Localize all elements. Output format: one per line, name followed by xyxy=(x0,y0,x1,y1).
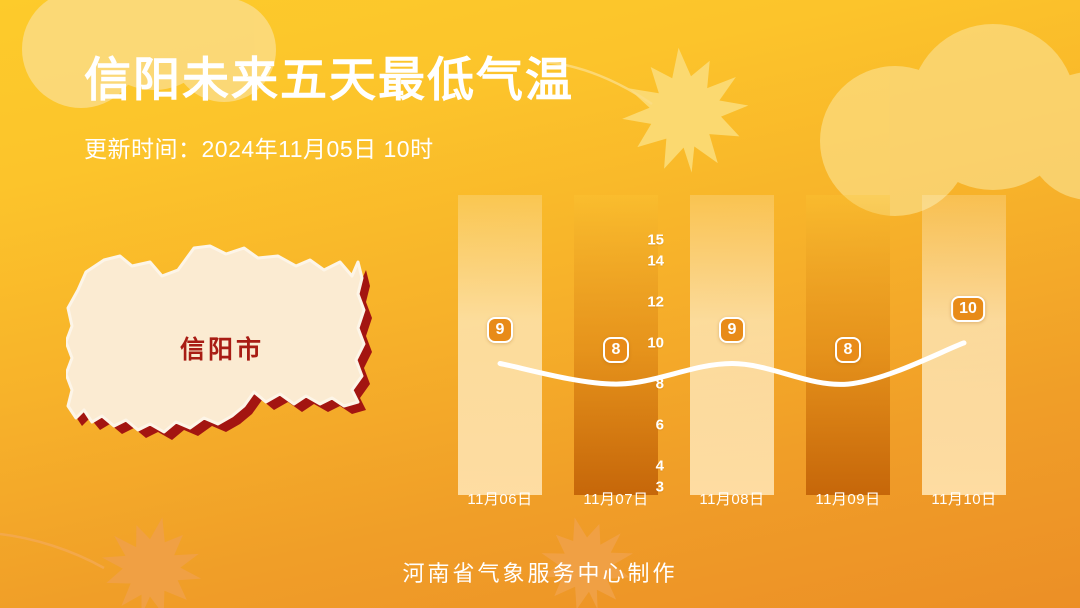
x-tick-11月10日: 11月10日 xyxy=(909,488,1019,509)
map-city-label: 信阳市 xyxy=(180,330,264,366)
chart-x-axis: 11月06日11月07日11月08日11月09日11月10日 xyxy=(416,488,1036,514)
y-tick-6: 6 xyxy=(634,417,664,434)
temperature-badge-11月10日: 10 xyxy=(951,296,985,322)
temperature-badge-11月08日: 9 xyxy=(719,317,745,343)
footer-credit: 河南省气象服务中心制作 xyxy=(0,556,1080,588)
x-tick-11月06日: 11月06日 xyxy=(445,488,555,509)
cloud-decoration-top-right xyxy=(850,14,1080,154)
page-title: 信阳未来五天最低气温 xyxy=(84,53,574,107)
x-tick-11月08日: 11月08日 xyxy=(677,488,787,509)
weather-poster: 信阳未来五天最低气温 更新时间：2024年11月05日 10时 信阳市 9898… xyxy=(0,0,1080,608)
update-time-label: 更新时间：2024年11月05日 10时 xyxy=(84,130,434,164)
y-tick-8: 8 xyxy=(634,376,664,393)
maple-leaf-icon-top xyxy=(603,35,766,185)
temperature-badge-11月06日: 9 xyxy=(487,317,513,343)
temperature-line-path xyxy=(500,343,964,385)
y-tick-15: 15 xyxy=(634,232,664,249)
y-tick-14: 14 xyxy=(634,252,664,269)
temperature-chart: 989810 xyxy=(416,195,1036,495)
y-tick-10: 10 xyxy=(634,334,664,351)
maple-leaf-icon-bottom-left xyxy=(82,501,222,608)
x-tick-11月07日: 11月07日 xyxy=(561,488,671,509)
y-tick-4: 4 xyxy=(634,458,664,475)
x-tick-11月09日: 11月09日 xyxy=(793,488,903,509)
temperature-line xyxy=(416,195,1036,495)
temperature-badge-11月07日: 8 xyxy=(603,337,629,363)
temperature-badge-11月09日: 8 xyxy=(835,337,861,363)
y-tick-12: 12 xyxy=(634,293,664,310)
maple-leaf-icon-bottom-right xyxy=(519,500,652,608)
